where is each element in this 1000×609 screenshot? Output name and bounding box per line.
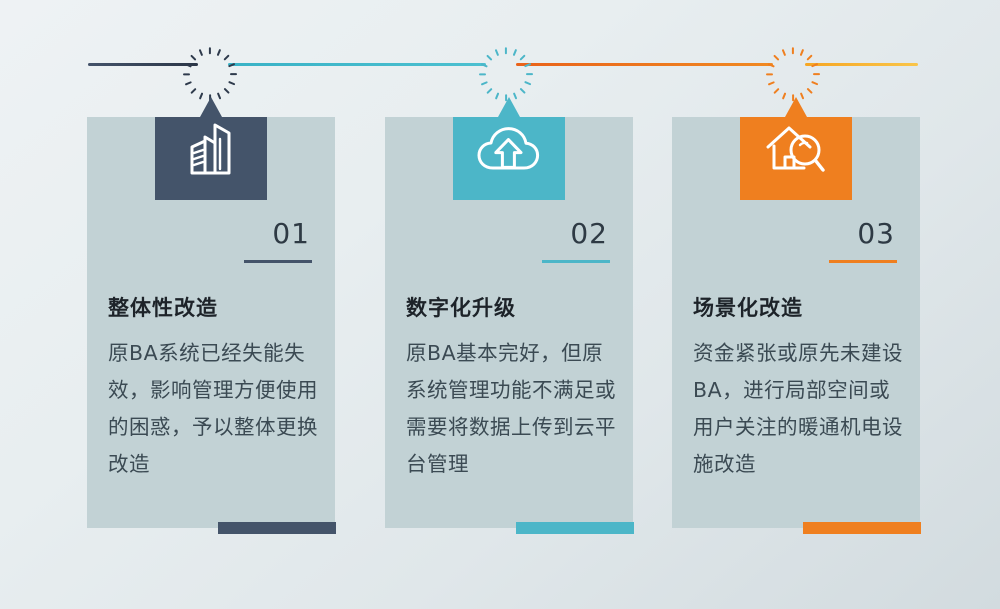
card-2-body: 原BA基本完好，但原系统管理功能不满足或需要将数据上传到云平台管理: [406, 335, 624, 483]
sunburst-ray: [217, 49, 222, 56]
sunburst-ray: [231, 73, 238, 75]
sunburst-ray: [217, 93, 222, 100]
sunburst-ray: [486, 54, 492, 60]
timeline-segment-1: [88, 63, 198, 66]
sunburst-ray: [525, 81, 532, 86]
sunburst-ray: [229, 81, 236, 86]
sunburst-ray: [807, 54, 813, 60]
timeline-segment-2: [228, 63, 486, 66]
card-2-title: 数字化升级: [406, 292, 516, 322]
sunburst-ray: [520, 88, 526, 94]
sunburst-ray: [773, 54, 779, 60]
sunburst-ray: [224, 88, 230, 94]
card-1[interactable]: 01 整体性改造 原BA系统已经失能失效，影响管理方便使用的困惑，予以整体更换改…: [87, 117, 335, 528]
sunburst-ray: [185, 63, 192, 68]
sunburst-ray: [814, 73, 821, 75]
timeline: [0, 0, 1000, 120]
sunburst-ray: [199, 93, 204, 100]
card-2-bottom-bar: [516, 522, 634, 534]
sunburst-ray: [527, 73, 534, 75]
card-3-body: 资金紧张或原先未建设BA，进行局部空间或用户关注的暖通机电设施改造: [693, 335, 911, 483]
timeline-node-2[interactable]: [486, 44, 526, 84]
card-3-number: 03: [857, 217, 895, 250]
sunburst-ray: [768, 81, 775, 86]
sunburst-ray: [190, 54, 196, 60]
card-3[interactable]: 03 场景化改造 资金紧张或原先未建设BA，进行局部空间或用户关注的暖通机电设施…: [672, 117, 920, 528]
card-3-rule: [829, 260, 897, 263]
sunburst-ray: [768, 63, 775, 68]
card-3-bottom-bar: [803, 522, 921, 534]
timeline-node-1[interactable]: [190, 44, 230, 84]
sunburst-ray: [513, 49, 518, 56]
sunburst-ray: [782, 93, 787, 100]
sunburst-ray: [481, 81, 488, 86]
sunburst-ray: [209, 47, 211, 54]
timeline-segment-3: [516, 63, 773, 66]
card-1-body: 原BA系统已经失能失效，影响管理方便使用的困惑，予以整体更换改造: [108, 335, 326, 483]
timeline-node-3[interactable]: [773, 44, 813, 84]
cloud-upload-icon: [476, 121, 542, 177]
card-1-number: 01: [272, 217, 310, 250]
sunburst-ray: [525, 63, 532, 68]
card-2[interactable]: 02 数字化升级 原BA基本完好，但原系统管理功能不满足或需要将数据上传到云平台…: [385, 117, 633, 528]
sunburst-ray: [812, 63, 819, 68]
sunburst-ray: [800, 93, 805, 100]
sunburst-ray: [513, 93, 518, 100]
house-search-icon: [764, 120, 828, 178]
sunburst-ray: [224, 54, 230, 60]
sunburst-ray: [812, 81, 819, 86]
sunburst-ray: [807, 88, 813, 94]
card-2-rule: [542, 260, 610, 263]
sunburst-ray: [792, 47, 794, 54]
sunburst-ray: [183, 73, 190, 75]
card-3-title: 场景化改造: [693, 292, 803, 322]
sunburst-ray: [495, 93, 500, 100]
sunburst-ray: [520, 54, 526, 60]
sunburst-ray: [481, 63, 488, 68]
sunburst-ray: [505, 47, 507, 54]
sunburst-ray: [800, 49, 805, 56]
sunburst-ray: [505, 95, 507, 102]
card-1-bottom-bar: [218, 522, 336, 534]
infographic-stage: 01 整体性改造 原BA系统已经失能失效，影响管理方便使用的困惑，予以整体更换改…: [0, 0, 1000, 609]
card-1-title: 整体性改造: [108, 292, 218, 322]
sunburst-ray: [199, 49, 204, 56]
building-icon: [183, 119, 239, 179]
sunburst-ray: [479, 73, 486, 75]
sunburst-ray: [185, 81, 192, 86]
card-2-number: 02: [570, 217, 608, 250]
sunburst-ray: [782, 49, 787, 56]
sunburst-ray: [190, 88, 196, 94]
sunburst-ray: [766, 73, 773, 75]
sunburst-ray: [495, 49, 500, 56]
sunburst-ray: [486, 88, 492, 94]
timeline-segment-4: [805, 63, 918, 66]
sunburst-ray: [792, 95, 794, 102]
sunburst-ray: [773, 88, 779, 94]
card-1-rule: [244, 260, 312, 263]
sunburst-ray: [229, 63, 236, 68]
